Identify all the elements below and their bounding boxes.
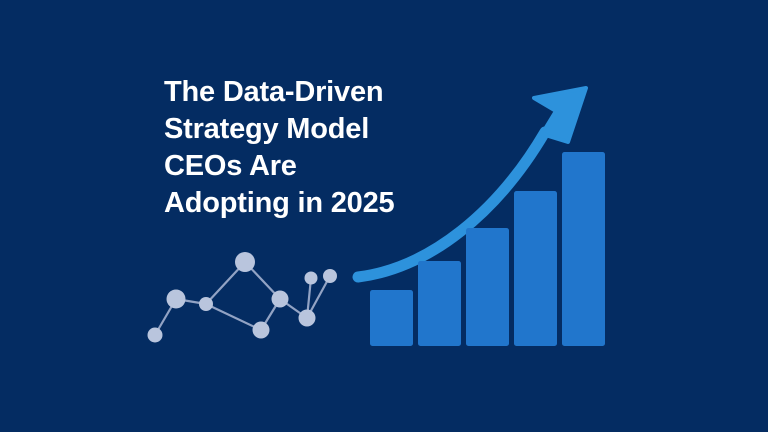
bar-2	[418, 261, 461, 346]
bar-3	[466, 228, 509, 346]
network-node	[199, 297, 213, 311]
network-node	[323, 269, 337, 283]
bar-4	[514, 191, 557, 346]
network-node	[253, 322, 270, 339]
network-node	[167, 290, 186, 309]
poster-canvas: The Data-Driven Strategy Model CEOs Are …	[0, 0, 768, 432]
network-node	[272, 291, 289, 308]
bar-1	[370, 290, 413, 346]
network-node	[299, 310, 316, 327]
network-node	[148, 328, 163, 343]
bar-5	[562, 152, 605, 346]
network-node	[235, 252, 255, 272]
network-node	[305, 272, 318, 285]
page-title: The Data-Driven Strategy Model CEOs Are …	[164, 74, 454, 222]
